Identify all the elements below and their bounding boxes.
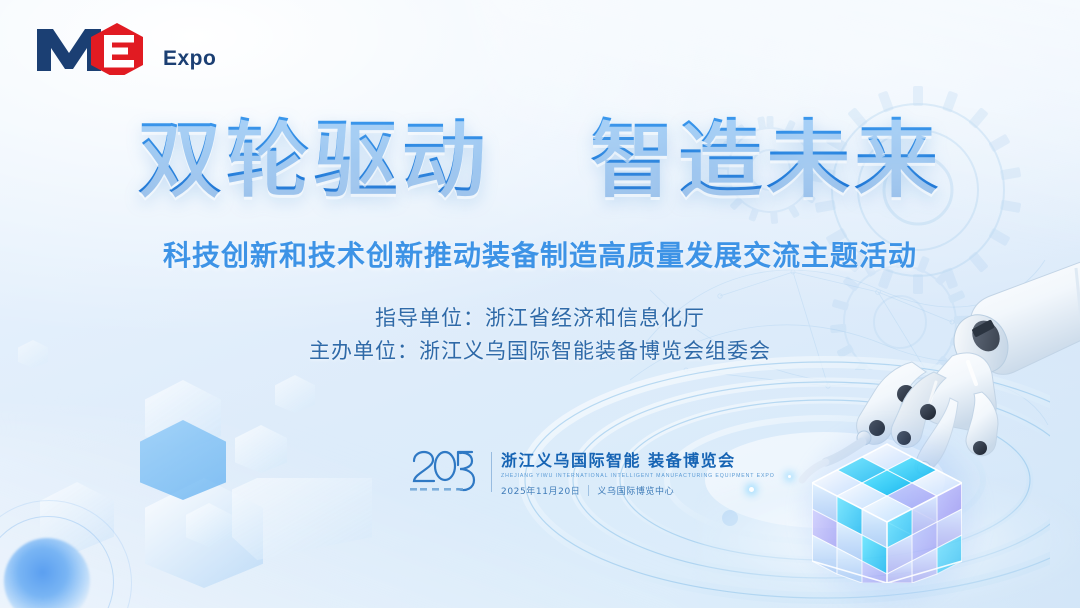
meta-divider: [588, 485, 589, 496]
organizer-line-guidance: 指导单位：浙江省经济和信息化厅: [0, 302, 1080, 335]
logo-wordmark: Expo: [163, 47, 216, 71]
orb-ring-2: [0, 500, 132, 608]
lockup-text: 浙江义乌国际智能 装备博览会 ZHEJIANG YIWU INTERNATION…: [501, 447, 775, 497]
lockup-divider: [491, 452, 492, 492]
year-2025-mark: [408, 447, 482, 497]
event-meta: 2025年11月20日 义乌国际博览中心: [501, 484, 775, 497]
event-name-en: ZHEJIANG YIWU INTERNATIONAL INTELLIGENT …: [501, 473, 775, 479]
event-lockup[interactable]: 浙江义乌国际智能 装备博览会 ZHEJIANG YIWU INTERNATION…: [408, 447, 775, 497]
me-logo-mark: [33, 21, 161, 75]
orb-ring-1: [0, 516, 114, 608]
headline-part-1: 双轮驱动: [138, 111, 490, 209]
organizer-block: 指导单位：浙江省经济和信息化厅 主办单位：浙江义乌国际智能装备博览会组委会: [0, 302, 1080, 368]
me-expo-logo[interactable]: Expo: [33, 21, 216, 75]
event-date: 2025年11月20日: [501, 484, 580, 497]
page-title: 双轮驱动 智造未来: [0, 118, 1080, 202]
event-name-cn: 浙江义乌国际智能 装备博览会: [501, 447, 775, 471]
event-venue: 义乌国际博览中心: [597, 484, 674, 497]
glowing-blue-orb: [4, 538, 90, 608]
page-subtitle: 科技创新和技术创新推动装备制造高质量发展交流主题活动: [0, 234, 1080, 274]
headline-part-2: 智造未来: [590, 111, 942, 209]
banner-canvas: Expo 双轮驱动 智造未来 科技创新和技术创新推动装备制造高质量发展交流主题活…: [0, 0, 1080, 608]
glowing-rubik-cube: [812, 438, 962, 583]
organizer-line-host: 主办单位：浙江义乌国际智能装备博览会组委会: [0, 335, 1080, 368]
